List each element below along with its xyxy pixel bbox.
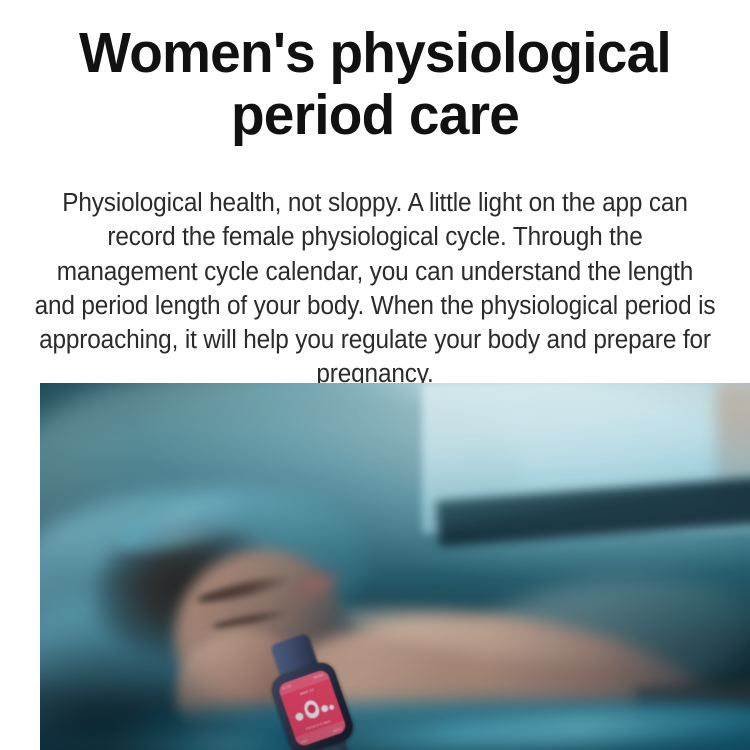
promo-page: Women's physiological period care Physio… xyxy=(0,0,750,750)
text-panel: Women's physiological period care Physio… xyxy=(0,0,750,367)
description-paragraph: Physiological health, not sloppy. A litt… xyxy=(34,186,716,392)
cycle-dot-3 xyxy=(320,704,329,713)
cycle-dot-1 xyxy=(294,712,304,722)
page-title: Women's physiological period care xyxy=(32,22,717,146)
photo-dark-corner xyxy=(40,633,250,750)
cycle-dot-4 xyxy=(328,704,334,710)
lifestyle-photo: 11:28 MENU MAR 14 Period in 6 days DAY N… xyxy=(40,383,750,750)
